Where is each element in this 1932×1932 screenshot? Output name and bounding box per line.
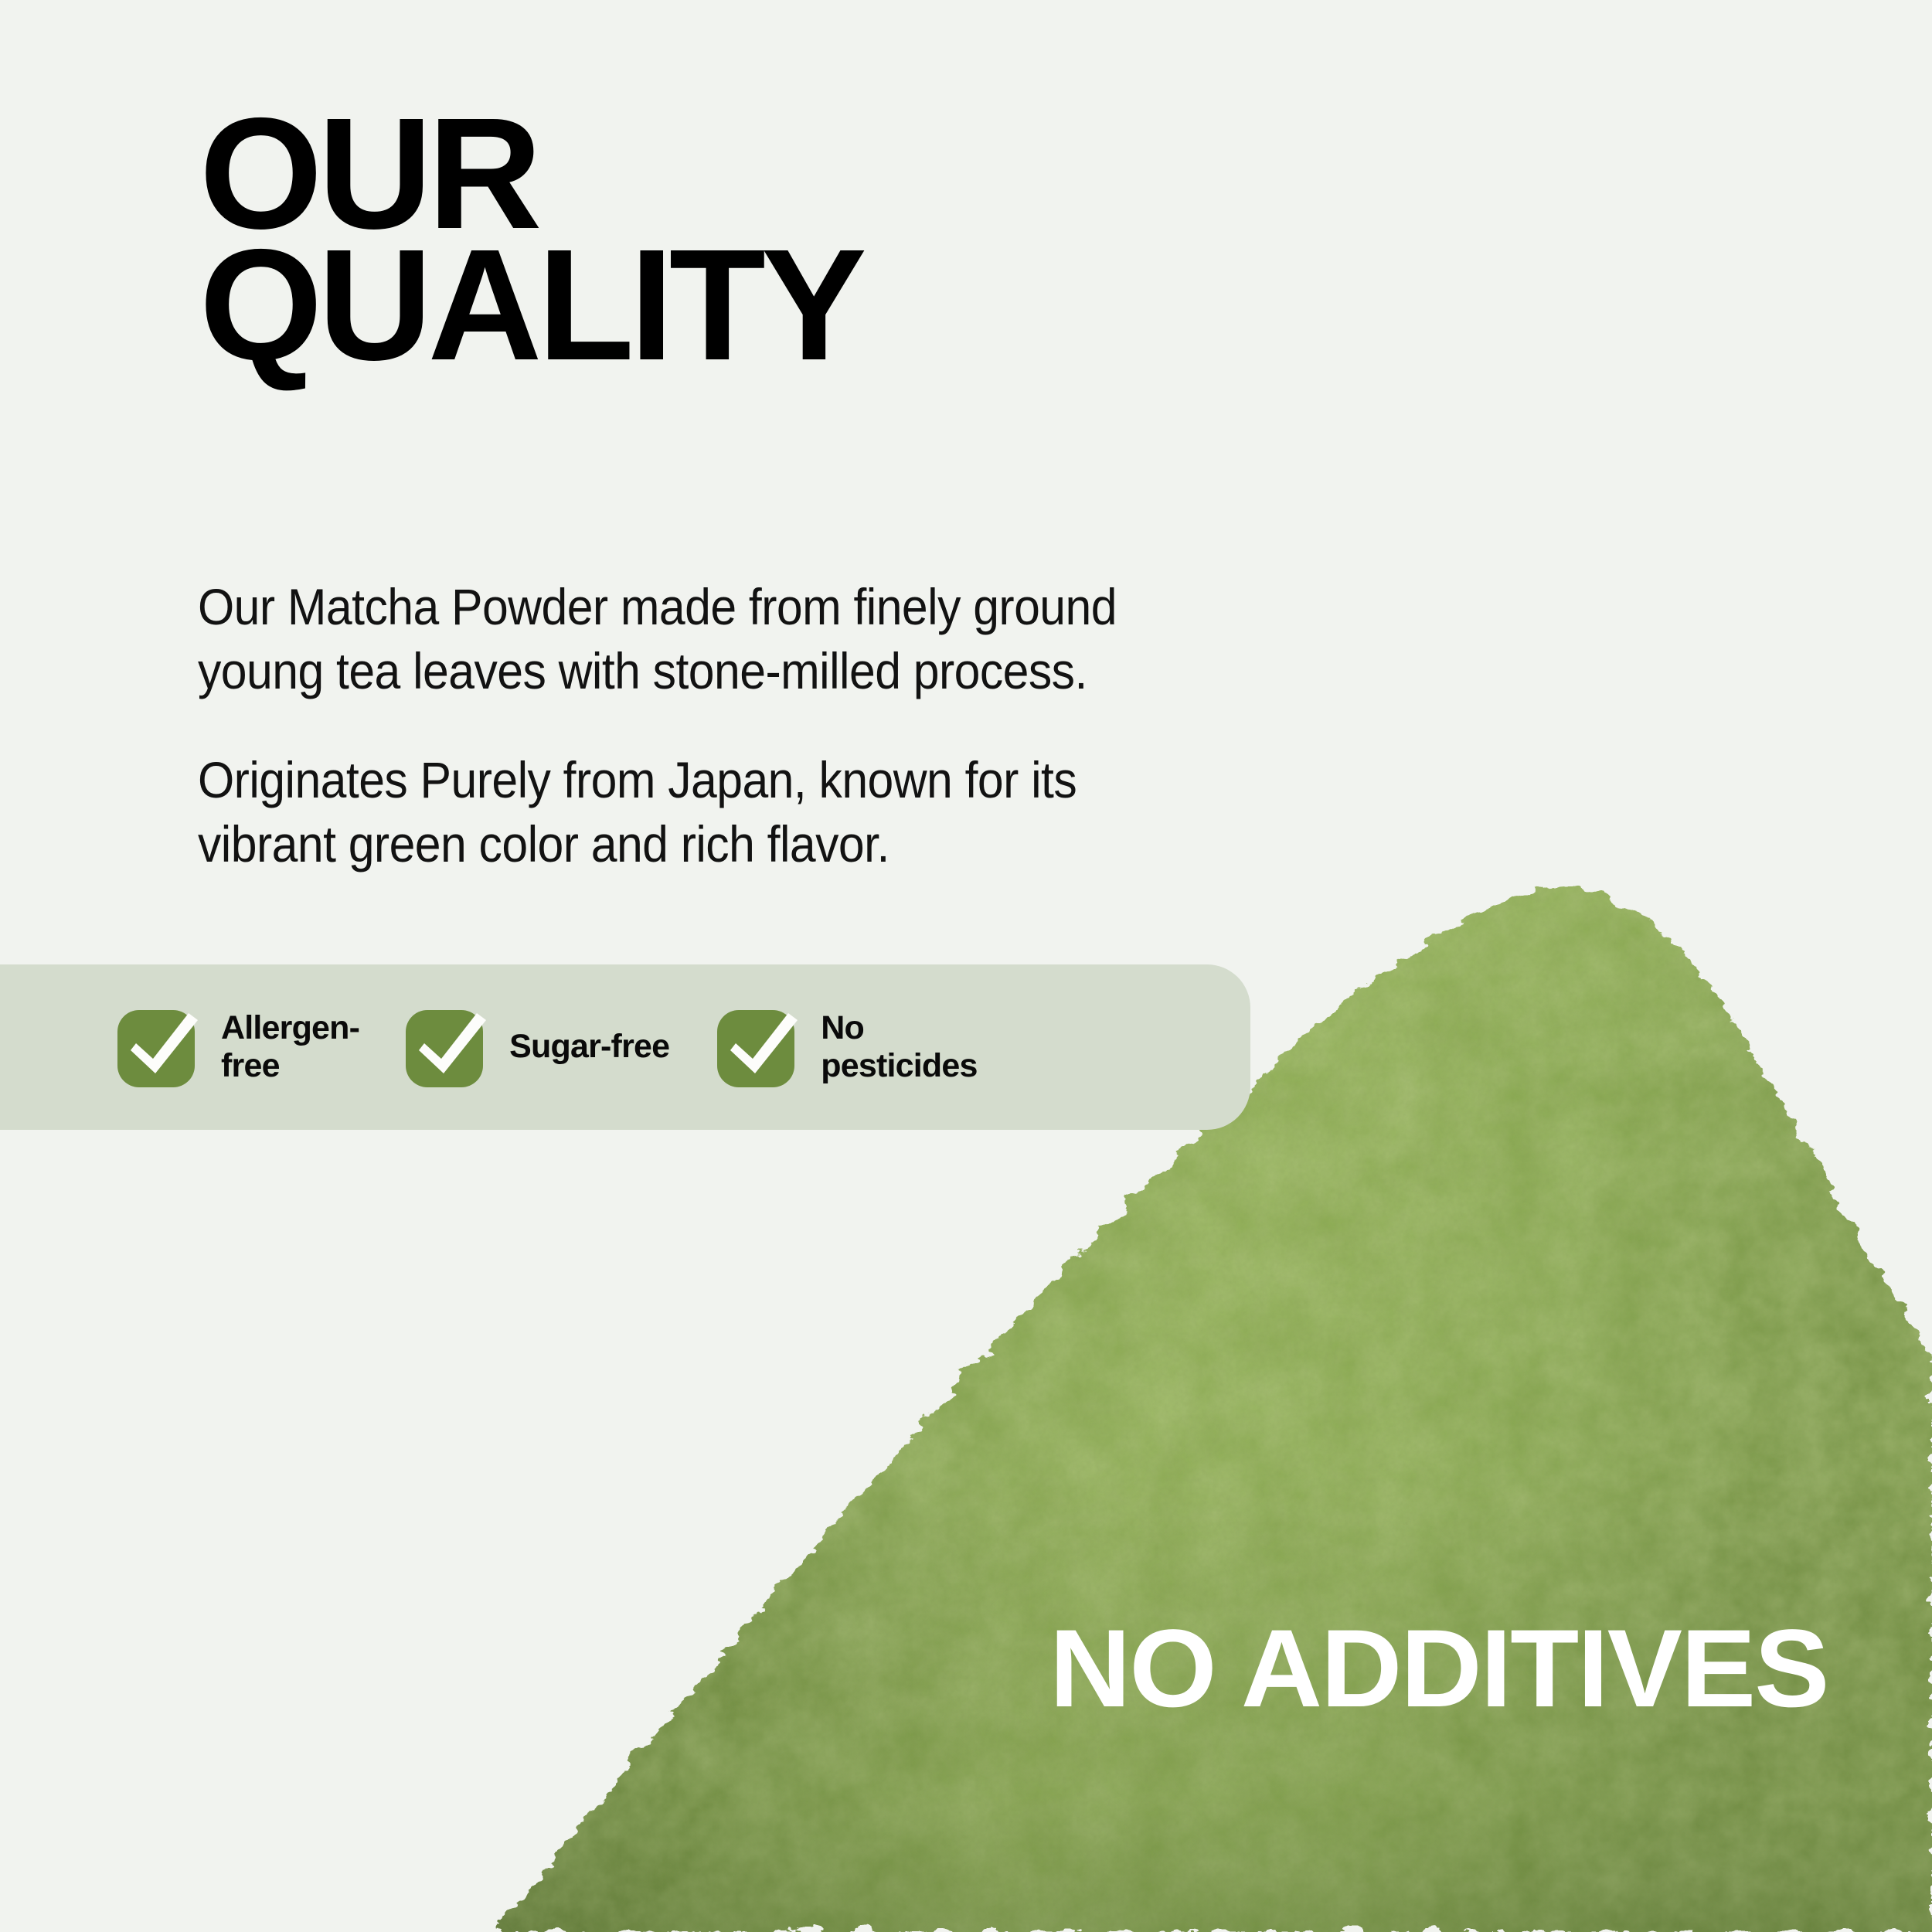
description-paragraph-1: Our Matcha Powder made from finely groun… xyxy=(198,575,1492,703)
product-quality-card: OUR QUALITY Our Matcha Powder made from … xyxy=(0,0,1932,1932)
feature-badge-bar: Allergen- free Sugar-free No pesticides xyxy=(0,964,1250,1130)
badge-no-pesticides: No pesticides xyxy=(717,1007,977,1087)
badge-sugar-free: Sugar-free xyxy=(406,1007,669,1087)
no-additives-overlay-text: NO ADDITIVES xyxy=(1049,1614,1828,1724)
check-icon xyxy=(117,1007,199,1087)
badge-label: No pesticides xyxy=(821,1009,977,1085)
page-title-line-2: QUALITY xyxy=(199,240,1281,371)
check-icon xyxy=(717,1007,799,1087)
badge-allergen-free: Allergen- free xyxy=(117,1007,359,1087)
badge-label: Allergen- free xyxy=(221,1009,359,1085)
check-icon xyxy=(406,1007,488,1087)
description-paragraph-2: Originates Purely from Japan, known for … xyxy=(198,748,1492,876)
page-title: OUR QUALITY xyxy=(199,108,1281,371)
badge-label: Sugar-free xyxy=(509,1028,669,1066)
description-block: Our Matcha Powder made from finely groun… xyxy=(198,575,1604,877)
